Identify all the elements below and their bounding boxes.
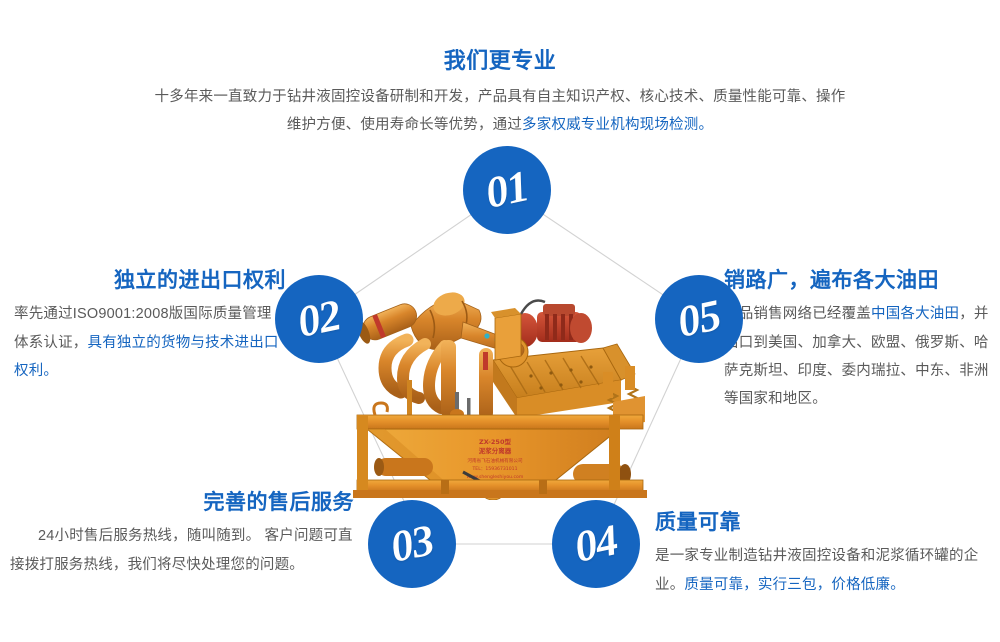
feature-05-body: 产品销售网络已经覆盖中国各大油田，并出口到美国、加拿大、欧盟、俄罗斯、哈萨克斯坦… (724, 300, 992, 413)
badge-02[interactable]: 02 (275, 275, 363, 363)
badge-03-number: 03 (387, 518, 437, 570)
feature-block-01: 我们更专业 十多年来一直致力于钻井液固控设备研制和开发，产品具有自主知识产权、核… (150, 45, 850, 139)
product-image-mud-separator: ZX-250型 泥浆分离器 河南省飞石油机械有限公司 TEL：159367310… (345, 252, 655, 500)
badge-04[interactable]: 04 (552, 500, 640, 588)
feature-block-04: 质量可靠 是一家专业制造钻井液固控设备和泥浆循环罐的企业。质量可靠，实行三包，价… (655, 508, 995, 599)
badge-01-number: 01 (482, 164, 532, 216)
svg-text:泥浆分离器: 泥浆分离器 (479, 446, 512, 455)
infographic-stage: ZX-250型 泥浆分离器 河南省飞石油机械有限公司 TEL：159367310… (0, 0, 1000, 642)
badge-05[interactable]: 05 (655, 275, 743, 363)
feature-block-02: 独立的进出口权利 率先通过ISO9001:2008版国际质量管理体系认证，具有独… (14, 266, 286, 385)
svg-text:河南省飞石油机械有限公司: 河南省飞石油机械有限公司 (467, 457, 523, 464)
hydrocyclone-pipe-manifold (355, 289, 524, 420)
feature-04-title: 质量可靠 (655, 508, 995, 538)
feature-02-body: 率先通过ISO9001:2008版国际质量管理体系认证，具有独立的货物与技术进出… (14, 300, 286, 385)
feature-01-title: 我们更专业 (150, 45, 850, 77)
body-text: 24小时售后服务热线，随叫随到。 客户问题可直接拨打服务热线，我们将尽快处理您的… (10, 528, 353, 572)
badge-04-number: 04 (571, 518, 621, 570)
badge-05-number: 05 (674, 293, 724, 345)
feature-01-body: 十多年来一直致力于钻井液固控设备研制和开发，产品具有自主知识产权、核心技术、质量… (150, 83, 850, 140)
feature-02-title: 独立的进出口权利 (14, 266, 286, 296)
highlighted-text: 质量可靠，实行三包，价格低廉。 (684, 577, 905, 593)
svg-text:TEL：15936731011: TEL：15936731011 (471, 466, 517, 472)
badge-03[interactable]: 03 (368, 500, 456, 588)
feature-block-05: 销路广，遍布各大油田 产品销售网络已经覆盖中国各大油田，并出口到美国、加拿大、欧… (724, 266, 992, 414)
body-text: 十多年来一直致力于钻井液固控设备研制和开发，产品具有自主知识产权、核心技术、质量… (155, 89, 846, 133)
highlighted-text: 中国各大油田 (871, 306, 959, 322)
feature-03-body: 24小时售后服务热线，随叫随到。 客户问题可直接拨打服务热线，我们将尽快处理您的… (10, 522, 354, 579)
badge-02-number: 02 (294, 293, 344, 345)
frame-top-rail (357, 415, 643, 429)
feature-block-03: 完善的售后服务 24小时售后服务热线，随叫随到。 客户问题可直接拨打服务热线，我… (10, 488, 354, 579)
feature-05-title: 销路广，遍布各大油田 (724, 266, 992, 296)
feature-04-body: 是一家专业制造钻井液固控设备和泥浆循环罐的企业。质量可靠，实行三包，价格低廉。 (655, 542, 995, 599)
svg-text:ZX-250型: ZX-250型 (479, 437, 511, 446)
feature-03-title: 完善的售后服务 (10, 488, 354, 518)
body-text: 产品销售网络已经覆盖 (724, 306, 871, 322)
highlighted-text: 多家权威专业机构现场检测。 (522, 117, 713, 133)
badge-01[interactable]: 01 (463, 146, 551, 234)
